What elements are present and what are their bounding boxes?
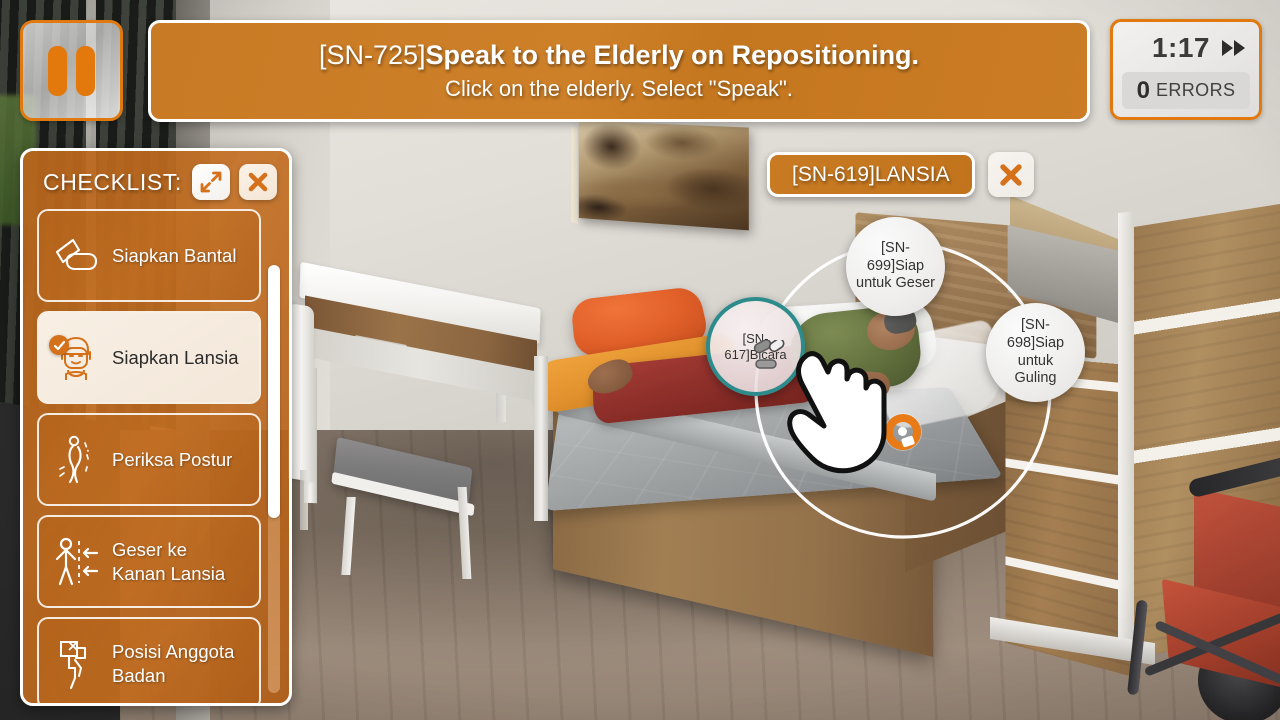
pillow-icon [53,231,99,281]
objective-code: [SN-725] [319,40,426,70]
selected-actor-label: [SN-619]LANSIA [792,163,950,187]
checklist-item-label: Siapkan Lansia [112,346,239,370]
checklist-expand-button[interactable] [192,164,230,200]
checklist-item-siapkan-lansia[interactable]: Siapkan Lansia [37,311,261,404]
checklist-panel: CHECKLIST: [20,148,292,706]
checklist-scrollbar[interactable] [268,265,280,693]
objective-banner: [SN-725]Speak to the Elderly on Repositi… [148,20,1090,122]
deselect-actor-button[interactable] [988,152,1034,197]
objective-title-line: [SN-725]Speak to the Elderly on Repositi… [319,40,919,71]
checklist-close-button[interactable] [239,164,277,200]
check-icon [53,339,66,352]
selected-actor-chip[interactable]: [SN-619]LANSIA [767,152,975,197]
errors-box: 0 ERRORS [1122,72,1250,109]
close-icon [998,162,1024,188]
checklist-title: CHECKLIST: [43,169,183,196]
expand-icon [199,170,223,194]
checklist-item-label: Siapkan Bantal [112,244,236,268]
checklist-item-label: Periksa Postur [112,448,232,472]
limb-position-icon [53,639,99,689]
timer-row: 1:17 [1122,28,1250,68]
checklist-scrollbar-thumb[interactable] [268,265,280,518]
timer-value: 1:17 [1152,32,1210,64]
game-viewport: [SN-617]Bicara [SN-699]Siap untuk Geser … [0,0,1280,720]
pause-icon-bar-left [48,46,67,96]
checklist-item-siapkan-bantal[interactable]: Siapkan Bantal [37,209,261,302]
checked-badge [49,335,69,355]
checklist-item-periksa-postur[interactable]: Periksa Postur [37,413,261,506]
checklist-items: Siapkan Bantal [37,209,279,703]
errors-label: ERRORS [1156,80,1235,101]
pause-button[interactable] [20,20,123,121]
checklist-header: CHECKLIST: [23,151,289,209]
checklist-item-posisi-anggota-badan[interactable]: Posisi Anggota Badan [37,617,261,703]
timer-panel: 1:17 0 ERRORS [1110,19,1262,120]
fast-forward-icon[interactable] [1221,39,1247,57]
checklist-item-label: Posisi Anggota Badan [112,640,245,687]
checklist-item-geser-ke-kanan-lansia[interactable]: Geser ke Kanan Lansia [37,515,261,608]
objective-instruction: Click on the elderly. Select "Speak". [445,76,793,102]
checklist-item-label: Geser ke Kanan Lansia [112,538,245,585]
pause-icon-bar-right [76,46,95,96]
close-icon [246,170,270,194]
errors-count: 0 [1137,77,1150,105]
objective-title: Speak to the Elderly on Repositioning. [426,40,920,70]
shift-right-icon [53,537,99,587]
checklist-body: Siapkan Bantal [23,209,289,703]
posture-icon [53,435,99,485]
hud-layer: [SN-725]Speak to the Elderly on Repositi… [0,0,1280,720]
